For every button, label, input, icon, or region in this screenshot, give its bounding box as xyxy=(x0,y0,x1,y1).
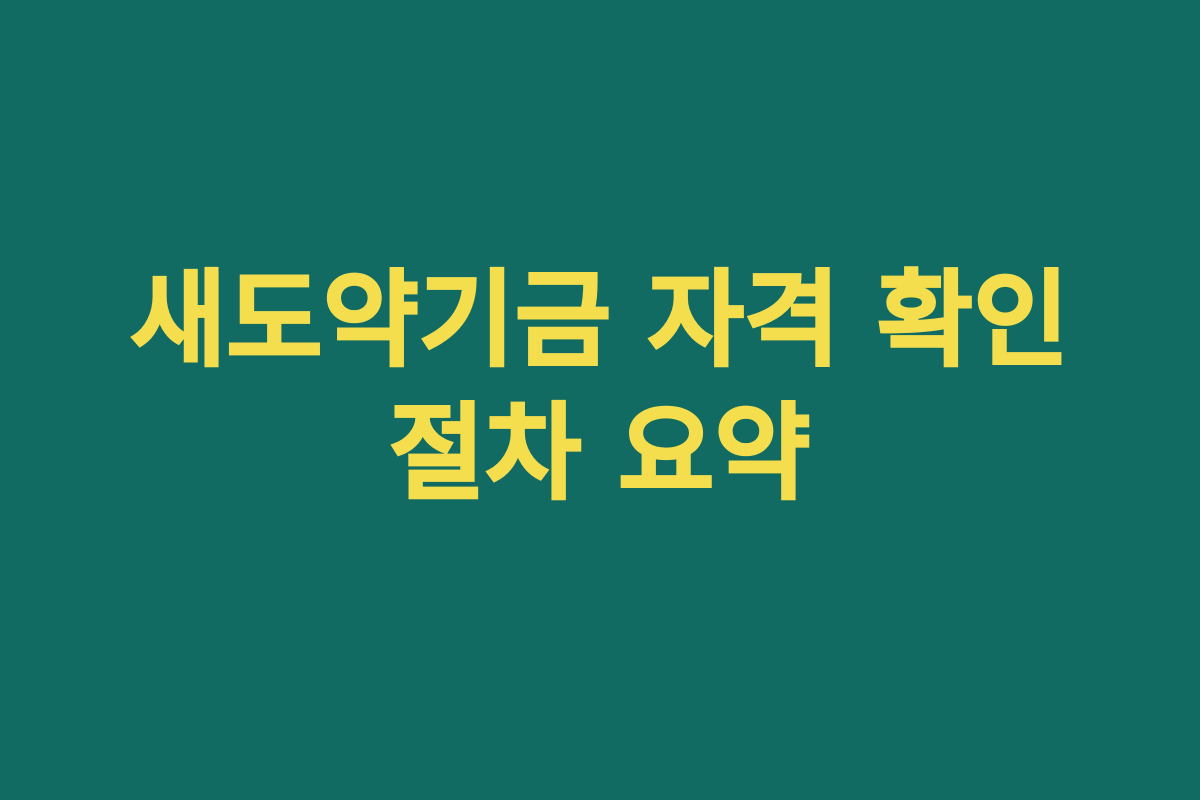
title-card: 새도약기금 자격 확인 절차 요약 xyxy=(0,0,1200,800)
page-title: 새도약기금 자격 확인 절차 요약 xyxy=(75,254,1125,520)
headline-block: 새도약기금 자격 확인 절차 요약 xyxy=(75,254,1125,520)
